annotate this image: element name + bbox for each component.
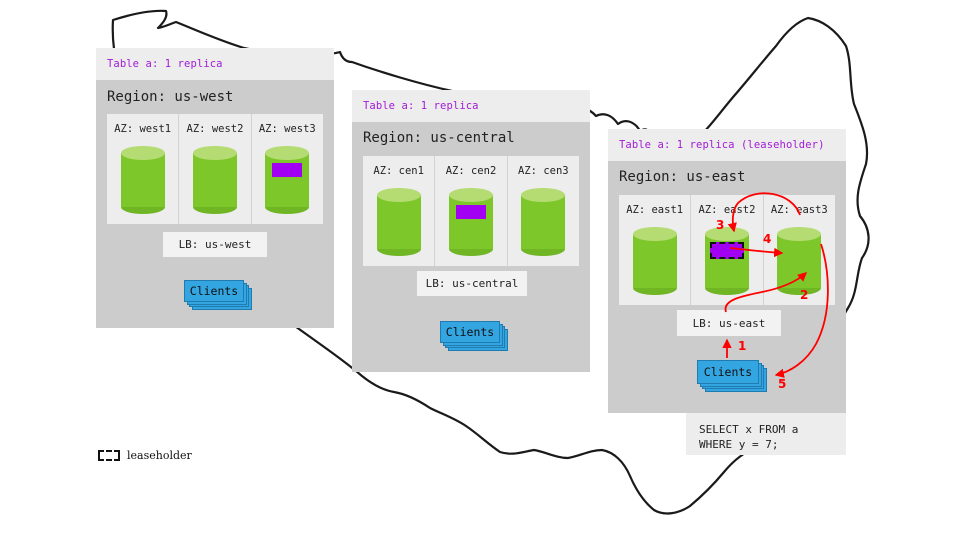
clients-us-east[interactable]: Clients [697,360,771,394]
cylinder-body [521,195,565,249]
cylinder-body [633,234,677,288]
az-label: AZ: cen1 [363,165,434,177]
replica-cylinder[interactable] [265,146,309,214]
clients-label[interactable]: Clients [184,280,244,302]
table-banner-label: Table a: 1 replica (leaseholder) [619,139,825,151]
step-number-4: 4 [763,232,771,246]
cylinder-body [777,234,821,288]
cylinder-top [633,227,677,241]
load-balancer-us-central[interactable]: LB: us-central [417,271,527,296]
az-row-us-central: AZ: cen1 AZ: cen2 AZ: cen3 [363,156,579,266]
cylinder-body [449,195,493,249]
replica-marker-west3 [272,163,302,177]
az-west2[interactable]: AZ: west2 [179,114,251,224]
table-banner-us-central: Table a: 1 replica [352,90,590,122]
az-label: AZ: east2 [691,204,762,216]
cylinder-top [521,188,565,202]
az-cen3[interactable]: AZ: cen3 [508,156,579,266]
clients-label[interactable]: Clients [697,360,759,384]
table-banner-us-west: Table a: 1 replica [96,48,334,80]
cylinder-top [121,146,165,160]
cylinder-top [777,227,821,241]
az-west3[interactable]: AZ: west3 [252,114,323,224]
replica-cylinder[interactable] [705,227,749,295]
replica-marker-cen2 [456,205,486,219]
legend-label: leaseholder [127,449,192,462]
cylinder-top [705,227,749,241]
az-label: AZ: cen2 [435,165,506,177]
step-number-1: 1 [738,339,746,353]
cylinder-body [193,153,237,207]
az-cen1[interactable]: AZ: cen1 [363,156,435,266]
replica-cylinder[interactable] [521,188,565,256]
replica-cylinder[interactable] [193,146,237,214]
step-number-5: 5 [778,377,786,391]
region-title-us-west: Region: us-west [107,89,233,105]
lb-label: LB: us-east [693,317,766,330]
clients-label[interactable]: Clients [440,321,500,343]
load-balancer-us-east[interactable]: LB: us-east [677,310,781,336]
clients-us-west[interactable]: Clients [184,280,254,312]
region-title-us-east: Region: us-east [619,169,745,185]
az-label: AZ: west3 [252,123,323,135]
table-banner-label: Table a: 1 replica [107,58,223,70]
replica-cylinder[interactable] [777,227,821,295]
az-label: AZ: west1 [107,123,178,135]
az-cen2[interactable]: AZ: cen2 [435,156,507,266]
cylinder-top [449,188,493,202]
cylinder-top [193,146,237,160]
clients-us-central[interactable]: Clients [440,321,510,353]
sql-query-box: SELECT x FROM a WHERE y = 7; [686,413,846,455]
az-label: AZ: west2 [179,123,250,135]
az-label: AZ: east1 [619,204,690,216]
table-banner-label: Table a: 1 replica [363,100,479,112]
cylinder-top [377,188,421,202]
dashed-rect-icon [98,450,120,461]
step-number-3: 3 [716,218,724,232]
replica-cylinder[interactable] [449,188,493,256]
replica-marker-east2-leaseholder [710,242,744,259]
az-row-us-west: AZ: west1 AZ: west2 AZ: west3 [107,114,323,224]
replica-cylinder[interactable] [121,146,165,214]
region-title-us-central: Region: us-central [363,130,515,146]
load-balancer-us-west[interactable]: LB: us-west [163,232,267,257]
table-banner-us-east: Table a: 1 replica (leaseholder) [608,129,846,161]
replica-cylinder[interactable] [633,227,677,295]
az-east1[interactable]: AZ: east1 [619,195,691,305]
cylinder-body [265,153,309,207]
az-east2[interactable]: AZ: east2 [691,195,763,305]
lb-label: LB: us-central [426,277,519,290]
legend: leaseholder [98,449,192,462]
az-label: AZ: east3 [764,204,835,216]
diagram-canvas: Table a: 1 replica Region: us-west AZ: w… [0,0,960,540]
cylinder-body [377,195,421,249]
az-west1[interactable]: AZ: west1 [107,114,179,224]
step-number-2: 2 [800,288,808,302]
lb-label: LB: us-west [179,238,252,251]
replica-cylinder[interactable] [377,188,421,256]
az-label: AZ: cen3 [508,165,579,177]
cylinder-body [121,153,165,207]
cylinder-top [265,146,309,160]
